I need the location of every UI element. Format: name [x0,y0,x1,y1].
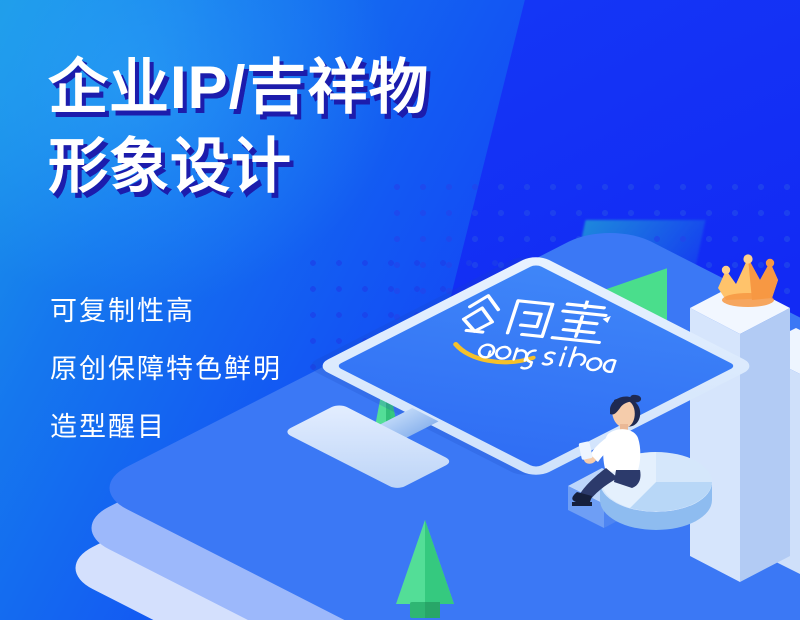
pine-tree-large [382,518,468,620]
person-shape [568,394,664,510]
promo-banner: 企业IP/吉祥物 形象设计 可复制性高 原创保障特色鲜明 造型醒目 [0,0,800,620]
brand-logo-mark [440,288,641,392]
feature-item-3: 造型醒目 [50,414,282,441]
headline-block: 企业IP/吉祥物 形象设计 [48,48,429,206]
headline-line-2: 形象设计 [48,127,429,206]
headline-line-1: 企业IP/吉祥物 [48,48,429,127]
brand-logo [440,288,641,392]
pillar-tall-shape [690,282,800,602]
seated-person [568,394,664,515]
pillar-tall [690,282,800,607]
feature-item-2: 原创保障特色鲜明 [50,356,282,383]
crown-icon [712,254,786,315]
feature-list: 可复制性高 原创保障特色鲜明 造型醒目 [50,298,282,472]
pine-tree-large-shape [382,518,468,620]
crown-shape [712,254,786,310]
feature-item-1: 可复制性高 [50,298,282,325]
